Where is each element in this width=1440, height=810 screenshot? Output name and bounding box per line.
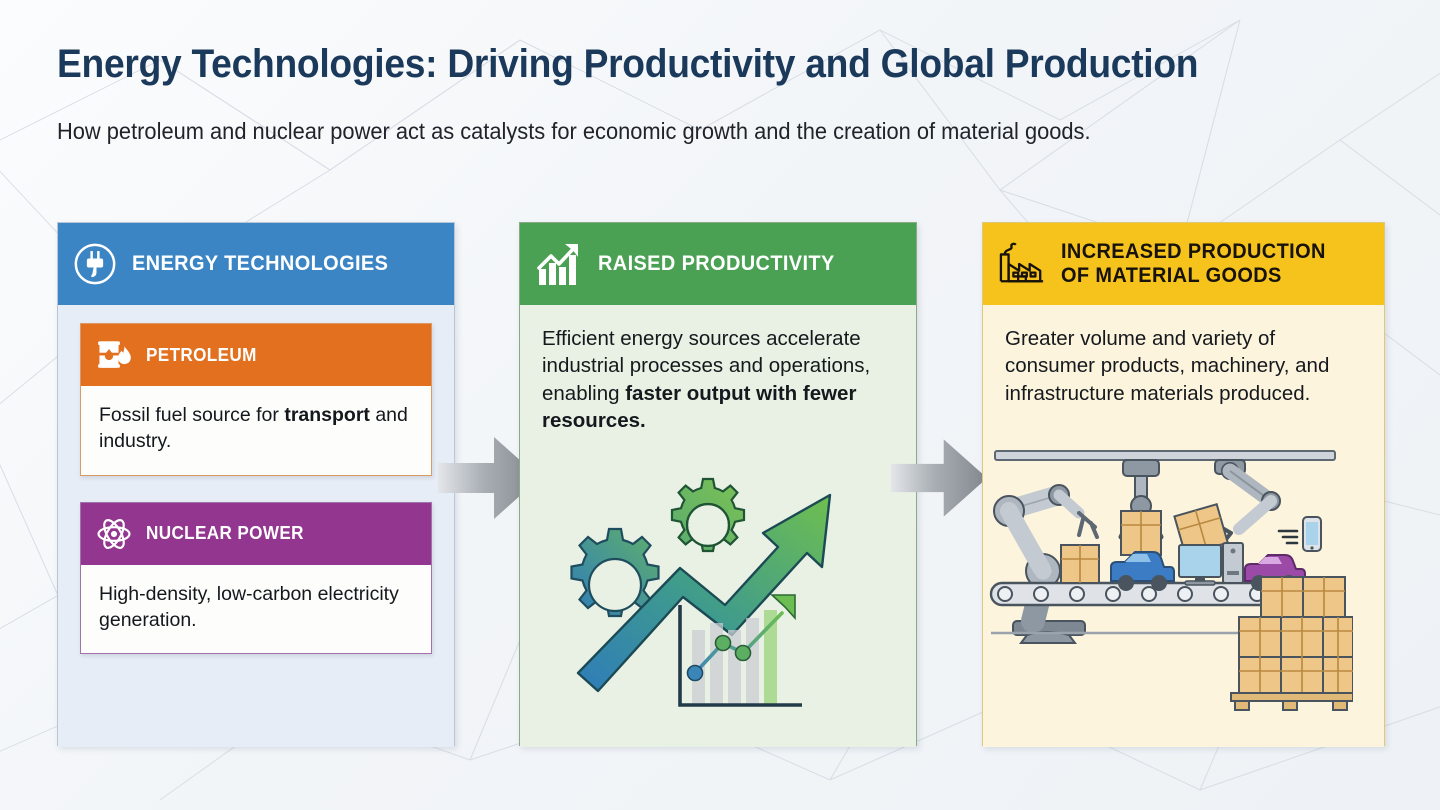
petroleum-header: PETROLEUM: [81, 324, 431, 386]
panel-raised-productivity: RAISED PRODUCTIVITY Efficient energy sou…: [519, 222, 917, 746]
smartphone: [1279, 517, 1321, 551]
computer: [1179, 543, 1243, 585]
panel2-body: Efficient energy sources accelerate indu…: [520, 305, 916, 747]
petroleum-text-before: Fossil fuel source for: [99, 404, 284, 426]
pallet: [1231, 693, 1353, 710]
panel3-description: Greater volume and variety of consumer p…: [1005, 325, 1362, 407]
panel3-body: Greater volume and variety of consumer p…: [983, 305, 1384, 747]
factory-icon: [997, 241, 1047, 287]
robotic-assembly-line-illustration: [983, 433, 1353, 713]
nuclear-description: High-density, low-carbon electricity gen…: [81, 565, 431, 654]
conveyor-box: [1061, 545, 1099, 583]
oil-barrel-flame-icon: [94, 335, 134, 375]
page-subtitle: How petroleum and nuclear power act as c…: [57, 118, 1091, 145]
panel3-text-before: Greater volume and variety of consumer p…: [1005, 327, 1329, 405]
panel2-description: Efficient energy sources accelerate indu…: [542, 325, 894, 434]
atom-icon: [94, 514, 134, 554]
subcard-petroleum: PETROLEUM Fossil fuel source for transpo…: [80, 323, 432, 476]
overhead-rail: [995, 451, 1335, 460]
subcard-nuclear-power: NUCLEAR POWER High-density, low-carbon e…: [80, 502, 432, 655]
nuclear-text-before: High-density, low-carbon electricity gen…: [99, 583, 399, 631]
gears-growth-arrow-chart-illustration: [520, 455, 880, 715]
panel3-header-label: INCREASED PRODUCTION OF MATERIAL GOODS: [1061, 240, 1326, 287]
panel2-header-label: RAISED PRODUCTIVITY: [598, 252, 835, 276]
ceiling-gripper-arm: [1121, 460, 1161, 555]
panel3-header-line1: INCREASED PRODUCTION: [1061, 240, 1326, 264]
nuclear-header: NUCLEAR POWER: [81, 503, 431, 565]
right-robot-arm: [1174, 460, 1280, 555]
page-title: Energy Technologies: Driving Productivit…: [57, 42, 1198, 87]
panel-increased-production: INCREASED PRODUCTION OF MATERIAL GOODS G…: [982, 222, 1385, 746]
panel-energy-technologies: ENERGY TECHNOLOGIES PETROLEUM Foss: [57, 222, 455, 746]
petroleum-text-bold: transport: [284, 404, 370, 426]
power-plug-circle-icon: [72, 241, 118, 287]
panel3-header-line2: OF MATERIAL GOODS: [1061, 264, 1326, 288]
petroleum-label: PETROLEUM: [146, 345, 257, 366]
infographic-page: Energy Technologies: Driving Productivit…: [0, 0, 1440, 810]
gear-small-icon: [672, 479, 744, 551]
right-arrow-icon-2: [889, 428, 989, 528]
petroleum-description: Fossil fuel source for transport and ind…: [81, 386, 431, 475]
panel3-header: INCREASED PRODUCTION OF MATERIAL GOODS: [983, 223, 1384, 305]
panel1-body: PETROLEUM Fossil fuel source for transpo…: [58, 305, 454, 747]
bar-chart-up-arrow-icon: [534, 239, 584, 289]
panel1-header: ENERGY TECHNOLOGIES: [58, 223, 454, 305]
nuclear-label: NUCLEAR POWER: [146, 523, 304, 544]
panel2-header: RAISED PRODUCTIVITY: [520, 223, 916, 305]
panel1-header-label: ENERGY TECHNOLOGIES: [132, 252, 388, 276]
